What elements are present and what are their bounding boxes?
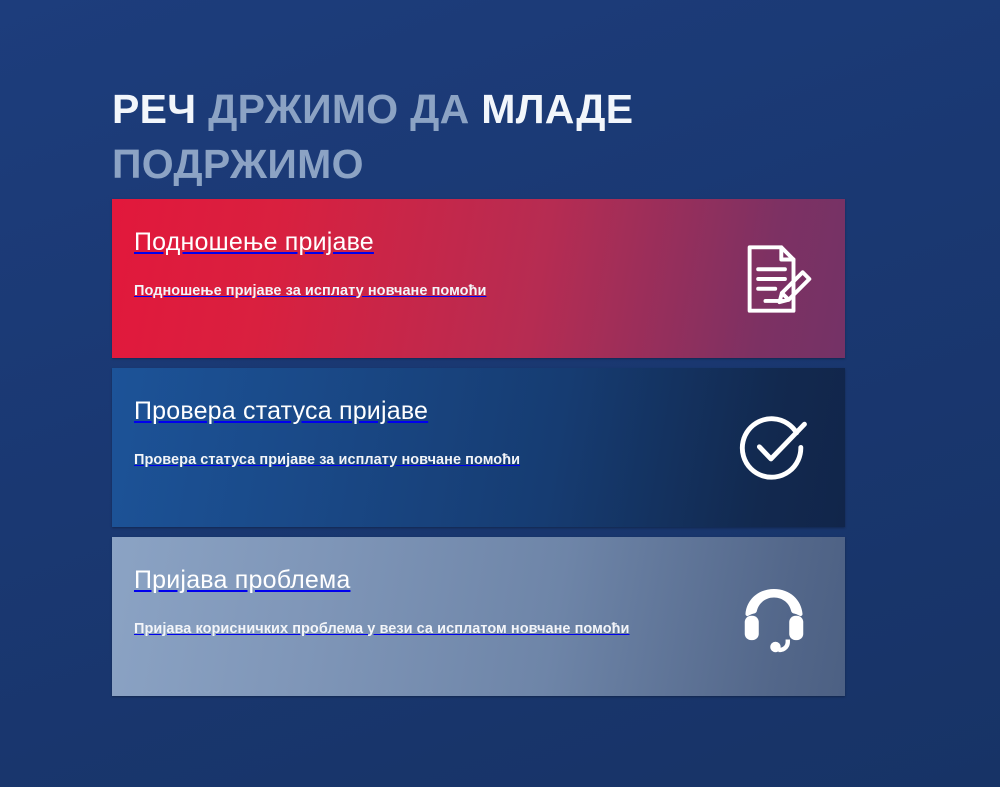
card-submit-application[interactable]: Подношење пријаве Подношење пријаве за и… — [112, 199, 845, 358]
card-title: Пријава проблема — [134, 567, 811, 595]
page-title-segment-1: РЕЧ — [112, 86, 208, 132]
page-title-segment-3: МЛАДЕ — [481, 86, 633, 132]
card-subtitle: Провера статуса пријаве за исплату новча… — [134, 451, 811, 469]
page-title: РЕЧ ДРЖИМО ДА МЛАДЕ ПОДРЖИМО — [112, 82, 892, 191]
page-root: РЕЧ ДРЖИМО ДА МЛАДЕ ПОДРЖИМО Подношење п… — [0, 0, 1000, 787]
service-card-list: Подношење пријаве Подношење пријаве за и… — [112, 199, 845, 696]
card-report-problem[interactable]: Пријава проблема Пријава корисничких про… — [112, 537, 845, 696]
card-subtitle: Подношење пријаве за исплату новчане пом… — [134, 282, 811, 300]
page-title-segment-4: ПОДРЖИМО — [112, 141, 364, 187]
card-check-status[interactable]: Провера статуса пријаве Провера статуса … — [112, 368, 845, 527]
page-title-segment-2: ДРЖИМО ДА — [208, 86, 481, 132]
card-title: Подношење пријаве — [134, 229, 811, 257]
card-subtitle: Пријава корисничких проблема у вези са и… — [134, 620, 811, 638]
card-title: Провера статуса пријаве — [134, 398, 811, 426]
